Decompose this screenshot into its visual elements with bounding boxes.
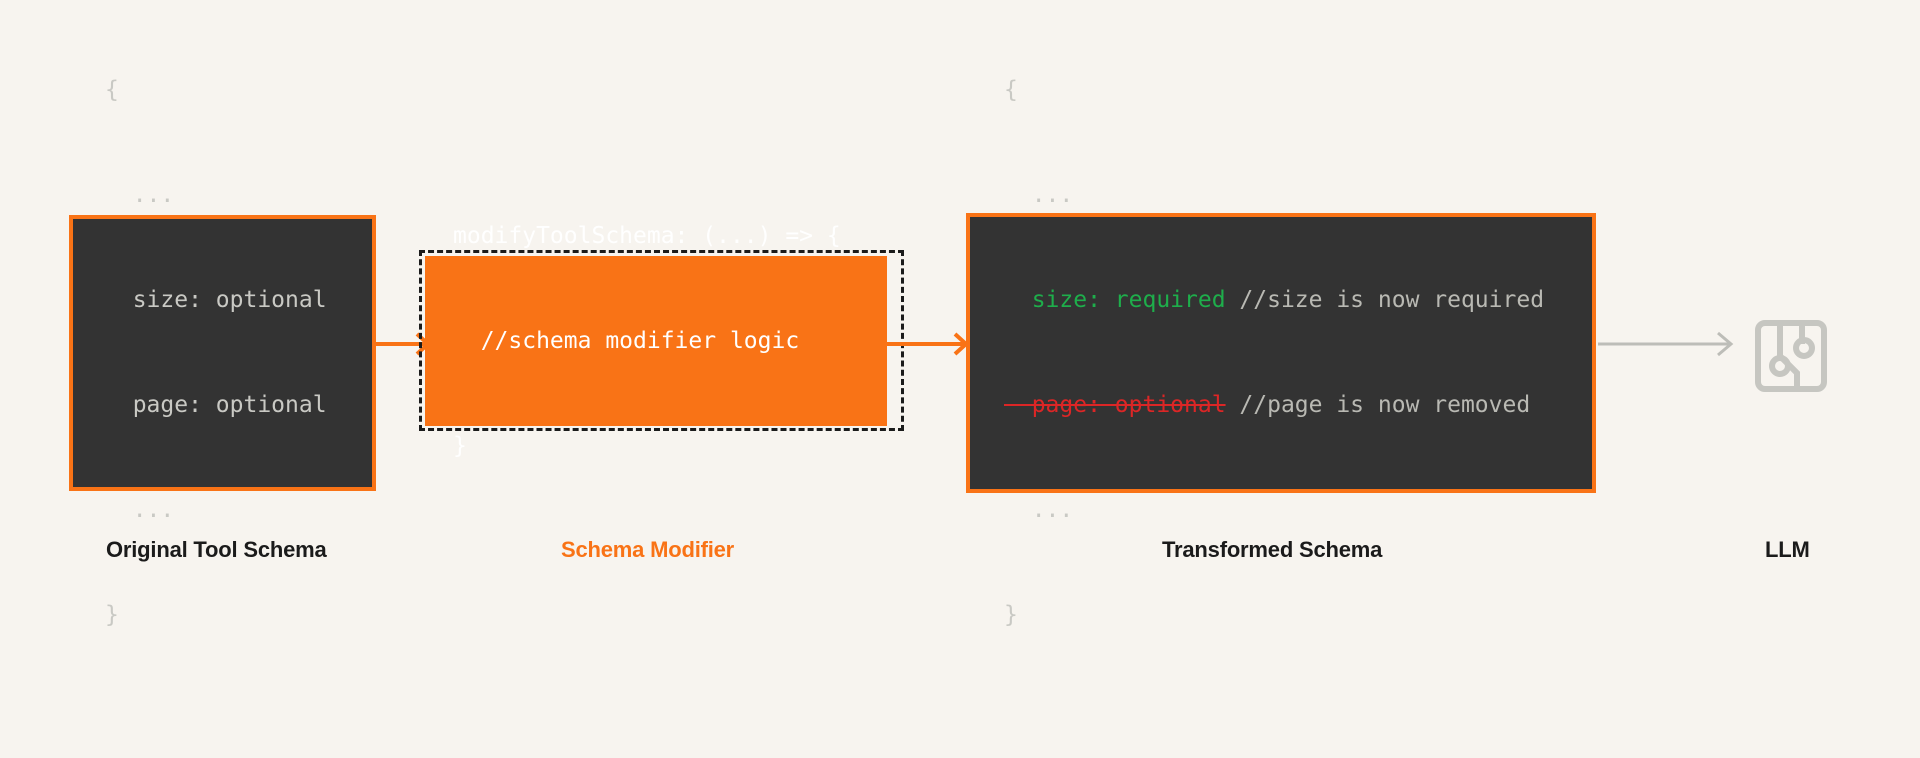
size-required-token: size: required xyxy=(1004,287,1226,313)
code-line: { xyxy=(1004,73,1592,108)
schema-modifier-panel: modifyToolSchema: (...) => { //schema mo… xyxy=(425,256,887,426)
code-line: size: optional xyxy=(105,283,372,318)
code-line: page: optional xyxy=(105,388,372,423)
code-line-size: size: required //size is now required xyxy=(1004,283,1592,318)
code-line: ... xyxy=(105,493,372,528)
caption-original-tool-schema: Original Tool Schema xyxy=(106,537,327,563)
diagram-canvas: { ... size: optional page: optional ... … xyxy=(0,0,1920,758)
chip-icon xyxy=(1753,318,1829,394)
arrow-transformed-to-llm xyxy=(1598,330,1738,358)
original-tool-schema-panel: { ... size: optional page: optional ... … xyxy=(69,215,376,491)
code-line: } xyxy=(1004,598,1592,633)
code-line: modifyToolSchema: (...) => { xyxy=(453,219,887,254)
transformed-schema-code: { ... size: required //size is now requi… xyxy=(970,3,1592,703)
schema-modifier-code: modifyToolSchema: (...) => { //schema mo… xyxy=(425,149,887,534)
caption-llm: LLM xyxy=(1765,537,1810,563)
code-line-page: page: optional //page is now removed xyxy=(1004,388,1592,423)
caption-schema-modifier: Schema Modifier xyxy=(561,537,734,563)
arrow-modifier-to-transformed xyxy=(884,331,970,357)
caption-transformed-schema: Transformed Schema xyxy=(1162,537,1382,563)
code-line: { xyxy=(105,73,372,108)
code-line: ... xyxy=(1004,178,1592,213)
transformed-schema-panel: { ... size: required //size is now requi… xyxy=(966,213,1596,493)
page-optional-removed-token: page: optional xyxy=(1004,392,1226,418)
code-line: ... xyxy=(105,178,372,213)
original-schema-code: { ... size: optional page: optional ... … xyxy=(73,3,372,703)
code-line: } xyxy=(105,598,372,633)
code-line: ... xyxy=(1004,493,1592,528)
page-comment: //page is now removed xyxy=(1226,392,1531,418)
code-line: //schema modifier logic xyxy=(453,324,887,359)
size-comment: //size is now required xyxy=(1226,287,1545,313)
code-line: } xyxy=(453,429,887,464)
